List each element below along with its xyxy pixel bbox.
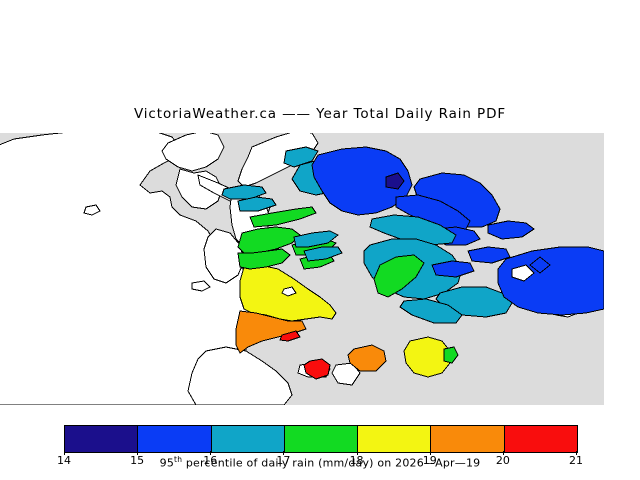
colorbar-area: 1415161718192021	[0, 420, 640, 480]
colorbar-band-18-19[interactable]	[358, 426, 431, 452]
caption-prefix: 95	[160, 457, 174, 470]
colorbar-band-17-18[interactable]	[285, 426, 358, 452]
map-graphic	[0, 133, 604, 405]
colorbar-band-16-17[interactable]	[212, 426, 285, 452]
weather-map-page: VictoriaWeather.ca —— Year Total Daily R…	[0, 0, 640, 480]
colorbar-band-20-21[interactable]	[505, 426, 577, 452]
colorbar-band-14-15[interactable]	[65, 426, 138, 452]
caption-superscript: th	[174, 455, 182, 464]
page-title: VictoriaWeather.ca —— Year Total Daily R…	[0, 106, 640, 122]
map-panel	[0, 133, 604, 405]
colorbar-band-15-16[interactable]	[138, 426, 211, 452]
colorbar-caption: 95th percentile of daily rain (mm/day) o…	[0, 455, 640, 470]
colorbar[interactable]	[64, 425, 578, 453]
colorbar-band-19-20[interactable]	[431, 426, 504, 452]
caption-rest: percentile of daily rain (mm/day) on 202…	[182, 457, 480, 470]
